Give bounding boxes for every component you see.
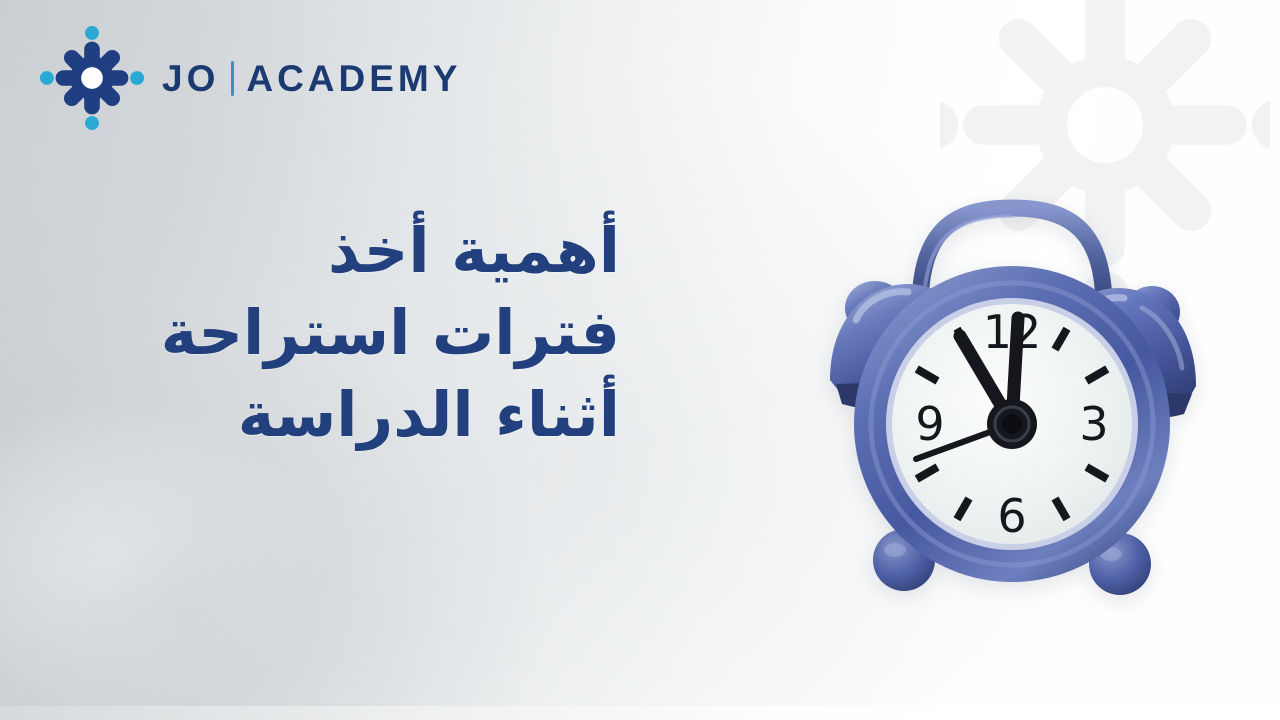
jo-academy-asterisk-icon <box>40 26 144 130</box>
headline-line-2: فترات استراحة <box>150 292 620 374</box>
brand-divider-icon <box>231 61 234 96</box>
svg-text:3: 3 <box>1079 397 1108 451</box>
svg-text:9: 9 <box>915 397 944 451</box>
headline: أهمية أخذ فترات استراحة أثناء الدراسة <box>150 210 620 455</box>
alarm-clock-icon: 12 3 6 9 <box>812 112 1212 632</box>
brand-word-jo: JO <box>162 60 219 97</box>
bottom-sheen <box>0 706 1280 720</box>
brand-wordmark: JO ACADEMY <box>162 60 461 97</box>
slide-canvas: JO ACADEMY أهمية أخذ فترات استراحة أثناء… <box>0 0 1280 720</box>
brand-word-academy: ACADEMY <box>246 60 461 97</box>
svg-text:6: 6 <box>997 489 1026 543</box>
headline-line-3: أثناء الدراسة <box>150 374 620 456</box>
brand-logo[interactable]: JO ACADEMY <box>40 26 461 130</box>
headline-line-1: أهمية أخذ <box>150 210 620 292</box>
